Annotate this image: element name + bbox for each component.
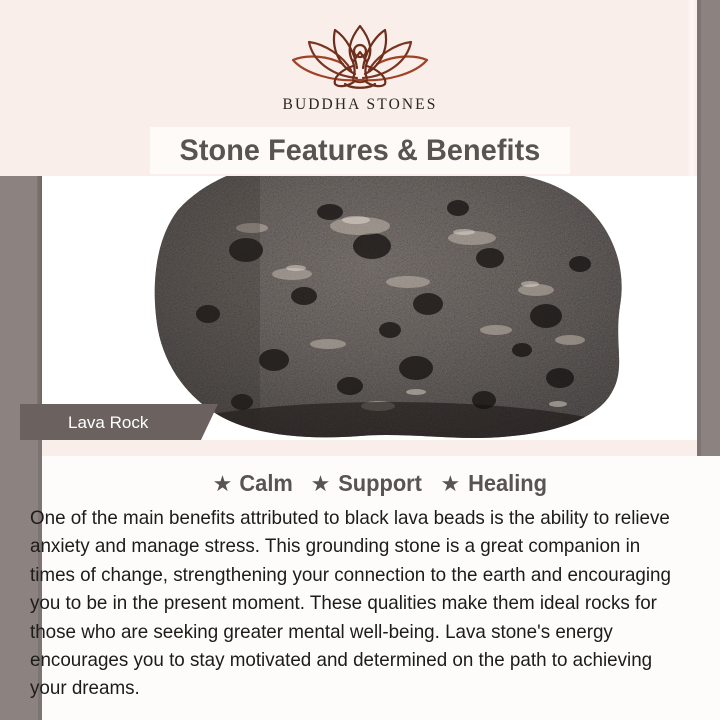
benefit-label-healing: Healing: [468, 470, 547, 497]
star-icon: ★: [213, 473, 233, 495]
lotus-meditation-icon: [277, 18, 443, 94]
star-icon: ★: [441, 473, 461, 495]
benefits-row: ★ Calm ★ Support ★ Healing: [42, 470, 720, 497]
description-text: One of the main benefits attributed to b…: [30, 504, 686, 703]
benefit-label-support: Support: [339, 470, 423, 497]
benefit-item-calm: ★ Calm: [213, 470, 295, 497]
benefit-label-calm: Calm: [240, 470, 293, 497]
frame-band-left: [0, 176, 42, 440]
stone-benefits-card: BUDDHA STONES Stone Features & Benefits: [0, 0, 720, 720]
title-banner: Stone Features & Benefits: [150, 127, 570, 174]
star-icon: ★: [311, 473, 331, 495]
frame-band-right: [697, 0, 720, 530]
page-title: Stone Features & Benefits: [180, 134, 541, 168]
divider-strip: [42, 440, 697, 456]
product-image-stage: [42, 176, 697, 440]
benefit-item-healing: ★ Healing: [441, 470, 550, 497]
product-caption-label: Lava Rock: [20, 413, 148, 433]
product-caption-bar: Lava Rock: [20, 404, 200, 442]
content-panel: ★ Calm ★ Support ★ Healing One of the ma…: [42, 456, 720, 720]
lava-rock-image: [60, 176, 672, 440]
benefit-item-support: ★ Support: [311, 470, 425, 497]
brand-logo: BUDDHA STONES: [0, 18, 720, 114]
brand-name: BUDDHA STONES: [0, 96, 720, 114]
